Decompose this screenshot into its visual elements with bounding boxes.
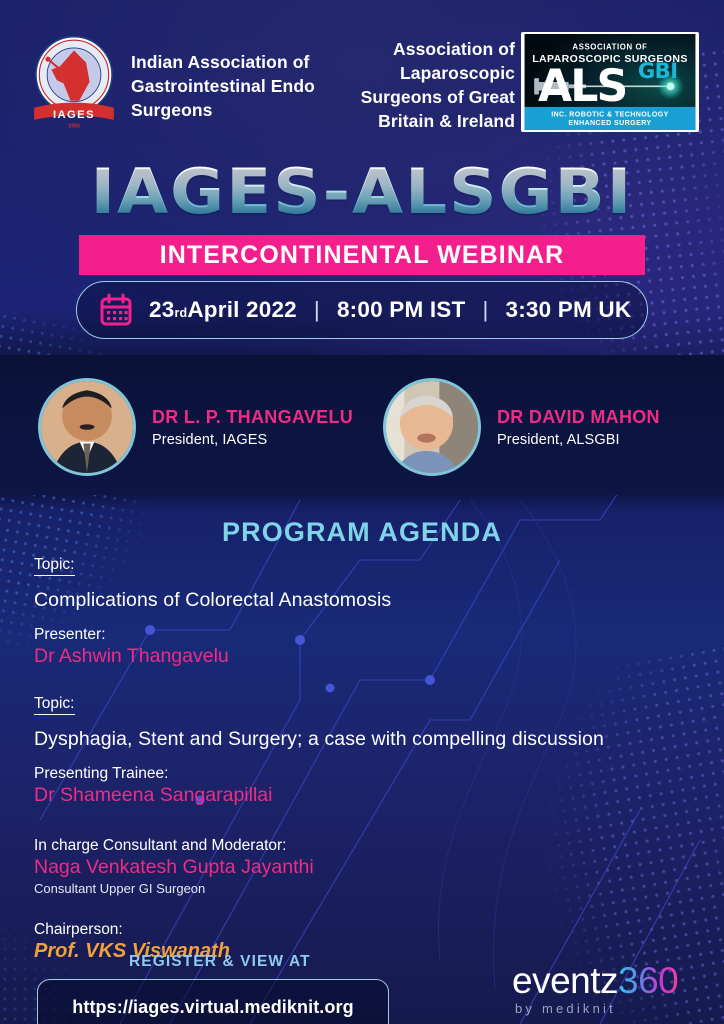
presenter-name-1: Dr Ashwin Thangavelu xyxy=(34,645,694,668)
moderator-name: Naga Venkatesh Gupta Jayanthi xyxy=(34,856,694,879)
speaker-role-1: President, IAGES xyxy=(152,432,353,448)
date-time-bar: 23rd April 2022 | 8:00 PM IST | 3:30 PM … xyxy=(76,281,648,339)
moderator-label: In charge Consultant and Moderator: xyxy=(34,837,694,855)
svg-text:GBI: GBI xyxy=(638,58,678,83)
svg-text:ENHANCED SURGERY: ENHANCED SURGERY xyxy=(568,119,651,127)
webinar-subtitle: INTERCONTINENTAL WEBINAR xyxy=(160,241,565,270)
moderator-title: Consultant Upper GI Surgeon xyxy=(34,881,694,896)
poster-header: ASSOCIATION IAGES 1993 Indian Associatio… xyxy=(0,0,724,150)
event-month-year: April 2022 xyxy=(187,297,297,323)
event-title: IAGES-ALSGBI xyxy=(0,160,724,223)
chairperson-label: Chairperson: xyxy=(34,921,694,939)
program-agenda-heading: PROGRAM AGENDA xyxy=(0,517,724,548)
event-day: 23 xyxy=(149,297,174,323)
time-uk: 3:30 PM UK xyxy=(506,297,632,323)
svg-text:ALS: ALS xyxy=(538,61,626,112)
svg-text:1993: 1993 xyxy=(68,124,80,130)
presenter-label-1: Presenter: xyxy=(34,626,694,644)
alsgbi-org-name: Association of Laparoscopic Surgeons of … xyxy=(330,37,515,134)
presenter-name-2: Dr Shameena Sangarapillai xyxy=(34,784,694,807)
speaker-photo-1 xyxy=(38,378,136,476)
topic-label-2: Topic: xyxy=(34,695,75,715)
speaker-photo-2 xyxy=(383,378,481,476)
calendar-icon xyxy=(99,293,133,327)
webinar-poster: ASSOCIATION IAGES 1993 Indian Associatio… xyxy=(0,0,724,1024)
alsgbi-logo: ASSOCIATION OF LAPAROSCOPIC SURGEONS ALS… xyxy=(521,32,699,132)
svg-text:ASSOCIATION OF: ASSOCIATION OF xyxy=(572,42,647,51)
speaker-role-2: President, ALSGBI xyxy=(497,432,660,448)
topic-text-2: Dysphagia, Stent and Surgery; a case wit… xyxy=(34,728,694,751)
presenter-label-2: Presenting Trainee: xyxy=(34,765,694,783)
title-section: IAGES-ALSGBI INTERCONTINENTAL WEBINAR xyxy=(0,160,724,275)
svg-text:INC. ROBOTIC & TECHNOLOGY: INC. ROBOTIC & TECHNOLOGY xyxy=(551,111,669,119)
day-ordinal: rd xyxy=(174,306,187,320)
brand-number: 360 xyxy=(618,960,678,1001)
registration-url[interactable]: https://iages.virtual.mediknit.org xyxy=(72,997,353,1018)
brand-tagline: by mediknit xyxy=(515,1001,702,1016)
brand-word: eventz xyxy=(512,960,618,1001)
svg-text:IAGES: IAGES xyxy=(53,109,95,121)
topic-text-1: Complications of Colorectal Anastomosis xyxy=(34,589,694,612)
speaker-card-2: DR DAVID MAHON President, ALSGBI xyxy=(383,378,660,476)
topic-label-1: Topic: xyxy=(34,556,75,576)
speaker-name-2: DR DAVID MAHON xyxy=(497,407,660,428)
eventz360-logo: eventz360 by mediknit xyxy=(512,962,702,1016)
separator-1: | xyxy=(314,297,320,323)
iages-org-name: Indian Association of Gastrointestinal E… xyxy=(131,50,361,122)
eventz360-wordmark: eventz360 xyxy=(512,962,702,999)
register-label: REGISTER & VIEW AT xyxy=(129,953,311,971)
separator-2: | xyxy=(482,297,488,323)
registration-url-box[interactable]: https://iages.virtual.mediknit.org xyxy=(37,979,389,1024)
time-ist: 8:00 PM IST xyxy=(337,297,466,323)
agenda-block-2: Topic: Dysphagia, Stent and Surgery; a c… xyxy=(34,695,694,807)
webinar-subtitle-bar: INTERCONTINENTAL WEBINAR xyxy=(79,235,645,275)
agenda-block-1: Topic: Complications of Colorectal Anast… xyxy=(34,556,694,668)
date-time-text: 23rd April 2022 | 8:00 PM IST | 3:30 PM … xyxy=(149,297,631,323)
agenda-list: Topic: Complications of Colorectal Anast… xyxy=(34,556,694,963)
iages-logo: ASSOCIATION IAGES 1993 xyxy=(22,28,126,132)
speaker-name-1: DR L. P. THANGAVELU xyxy=(152,407,353,428)
speaker-card-1: DR L. P. THANGAVELU President, IAGES xyxy=(38,378,353,476)
moderator-block: In charge Consultant and Moderator: Naga… xyxy=(34,837,694,896)
